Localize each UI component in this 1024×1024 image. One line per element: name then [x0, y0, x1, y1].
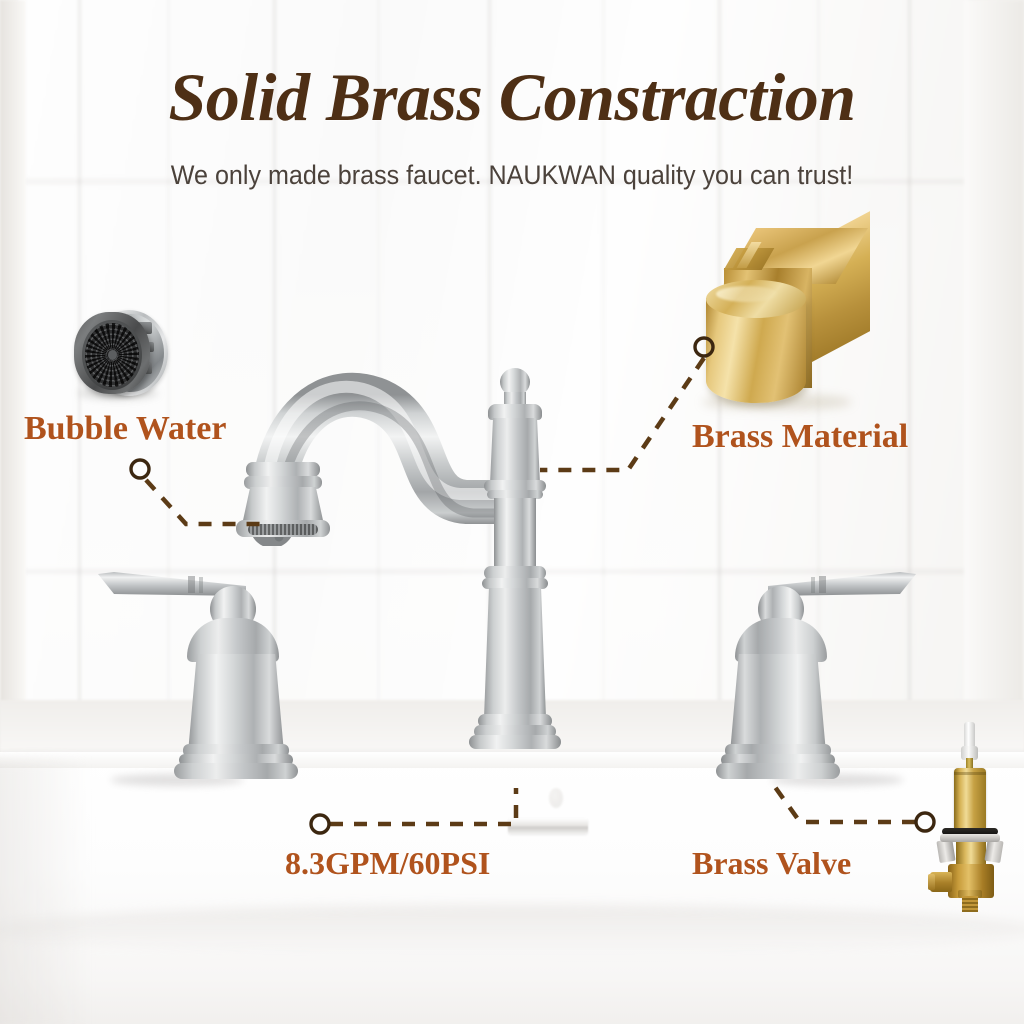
valve-upper-barrel	[954, 768, 986, 830]
spout-outlet	[236, 462, 328, 542]
sink-overflow-slot	[508, 818, 588, 834]
product-infographic: Solid Brass Constraction We only made br…	[0, 0, 1024, 1024]
brass-billet-product	[700, 228, 890, 413]
brass-cylinder-highlight	[716, 286, 778, 302]
column-mid-shaft	[494, 498, 536, 570]
callout-label-bubble-water: Bubble Water	[24, 410, 226, 448]
sink-shadow	[0, 760, 90, 1024]
valve-tab-left	[936, 839, 955, 863]
page-subtitle: We only made brass faucet. NAUKWAN quali…	[36, 160, 988, 191]
handle-base-left	[174, 763, 298, 779]
callout-label-brass-material: Brass Material	[692, 418, 908, 456]
aerator-face	[82, 320, 142, 390]
handle-base-right	[716, 763, 840, 779]
page-title: Solid Brass Constraction	[0, 58, 1024, 137]
valve-tab-right	[984, 839, 1003, 863]
faucet-handle-left	[88, 558, 288, 788]
valve-threaded-tail	[962, 896, 978, 912]
aerator-product	[68, 308, 172, 400]
sink-basin	[0, 752, 1024, 1024]
faucet-column	[456, 368, 574, 788]
outlet-aerator-mesh	[248, 524, 318, 535]
valve-upper-ring	[954, 772, 986, 775]
valve-flange	[940, 834, 1000, 842]
valve-port-cap	[928, 874, 935, 890]
sink-overflow-dot	[549, 788, 563, 808]
column-cap	[488, 404, 542, 420]
column-base-ring-3	[469, 735, 561, 749]
callout-label-brass-valve: Brass Valve	[692, 845, 851, 882]
column-upper-body	[490, 418, 540, 484]
brass-valve-product	[928, 722, 1012, 910]
outlet-ring-upper	[246, 462, 320, 477]
callout-label-flow-rate: 8.3GPM/60PSI	[285, 845, 490, 882]
faucet-handle-right	[726, 558, 926, 788]
sink-inner-edge	[0, 905, 1024, 955]
column-lower-body	[484, 588, 546, 718]
aerator-body	[74, 312, 150, 394]
column-ring-d	[482, 578, 548, 589]
